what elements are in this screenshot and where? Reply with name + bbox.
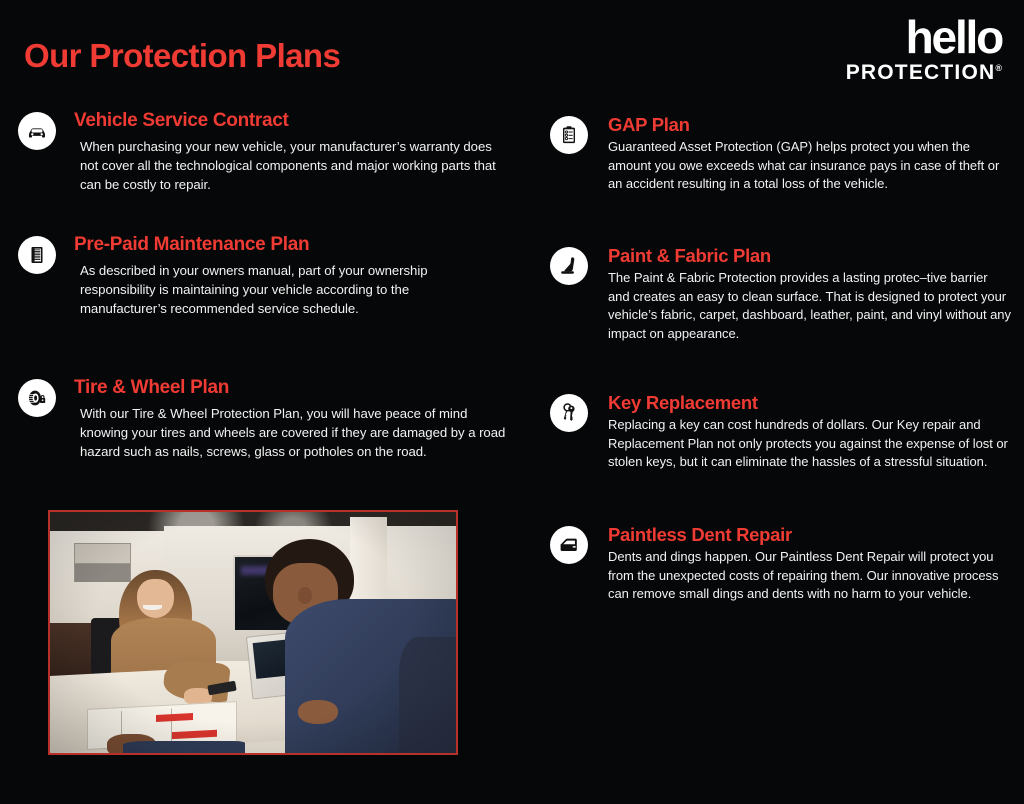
plan-title: Vehicle Service Contract	[74, 110, 508, 132]
plan-tire-and-wheel: Tire & Wheel Plan With our Tire & Wheel …	[18, 377, 508, 461]
plan-paintless-dent-repair: Paintless Dent Repair Dents and dings ha…	[550, 524, 1012, 604]
brand-logo-protection: PROTECTION®	[846, 62, 1002, 83]
plan-title: Paint & Fabric Plan	[608, 245, 1012, 266]
plan-description: Guaranteed Asset Protection (GAP) helps …	[608, 138, 1012, 193]
plan-title: GAP Plan	[608, 114, 1012, 135]
plan-body: Paint & Fabric Plan The Paint & Fabric P…	[608, 245, 1012, 343]
plan-description: The Paint & Fabric Protection provides a…	[608, 269, 1012, 343]
plan-title: Tire & Wheel Plan	[74, 377, 508, 399]
brand-logo-hello: hello	[846, 16, 1002, 58]
plan-pre-paid-maintenance: Pre-Paid Maintenance Plan As described i…	[18, 234, 458, 318]
plan-gap: GAP Plan Guaranteed Asset Protection (GA…	[550, 114, 1012, 194]
plan-title: Paintless Dent Repair	[608, 524, 1012, 545]
photo-vignette	[50, 512, 456, 753]
plan-body: Pre-Paid Maintenance Plan As described i…	[74, 234, 458, 318]
brand-logo: hello PROTECTION®	[846, 16, 1002, 83]
plan-description: When purchasing your new vehicle, your m…	[74, 137, 508, 194]
plan-body: Vehicle Service Contract When purchasing…	[74, 110, 508, 194]
owners-manual-icon	[18, 236, 56, 274]
photo-scene	[50, 512, 456, 753]
plan-body: Key Replacement Replacing a key can cost…	[608, 392, 1012, 472]
plan-title: Key Replacement	[608, 392, 1012, 413]
plan-description: With our Tire & Wheel Protection Plan, y…	[74, 404, 508, 461]
plan-body: GAP Plan Guaranteed Asset Protection (GA…	[608, 114, 1012, 194]
car-seat-icon	[550, 247, 588, 285]
brand-logo-protection-text: PROTECTION	[846, 61, 996, 84]
protection-plans-page: Our Protection Plans hello PROTECTION® V…	[0, 0, 1024, 804]
plan-vehicle-service-contract: Vehicle Service Contract When purchasing…	[18, 110, 508, 194]
dealership-photo	[48, 510, 458, 755]
registered-mark-icon: ®	[995, 63, 1002, 73]
plan-title: Pre-Paid Maintenance Plan	[74, 234, 458, 256]
plan-description: Replacing a key can cost hundreds of dol…	[608, 416, 1012, 471]
plan-paint-and-fabric: Paint & Fabric Plan The Paint & Fabric P…	[550, 245, 1012, 343]
plan-description: Dents and dings happen. Our Paintless De…	[608, 548, 1012, 603]
page-title: Our Protection Plans	[24, 38, 340, 74]
plan-key-replacement: Key Replacement Replacing a key can cost…	[550, 392, 1012, 472]
car-icon	[18, 112, 56, 150]
keys-icon	[550, 394, 588, 432]
plan-body: Tire & Wheel Plan With our Tire & Wheel …	[74, 377, 508, 461]
plan-description: As described in your owners manual, part…	[74, 261, 458, 318]
plan-body: Paintless Dent Repair Dents and dings ha…	[608, 524, 1012, 604]
clipboard-checklist-icon	[550, 116, 588, 154]
car-door-icon	[550, 526, 588, 564]
tire-lock-icon	[18, 379, 56, 417]
